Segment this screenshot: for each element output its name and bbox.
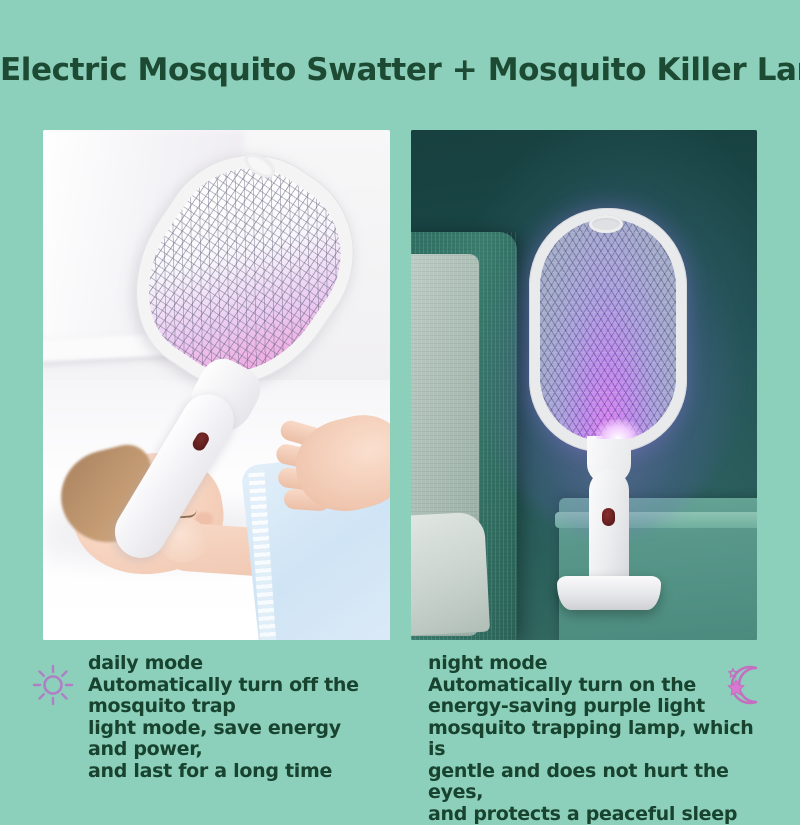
moon-icon: [718, 658, 772, 712]
night-mode-photo: [411, 130, 757, 640]
product-infographic: Electric Mosquito Swatter + Mosquito Kil…: [0, 0, 800, 800]
daily-mode-photo: [43, 130, 390, 640]
lamp-handle: [589, 470, 629, 586]
bed-pillow: [411, 512, 490, 637]
power-button-indicator: [602, 508, 615, 526]
uv-bulb: [596, 419, 640, 439]
lamp-mesh-grid: [540, 219, 676, 441]
lamp-hang-hole: [589, 215, 623, 233]
daily-mode-feature-text: daily mode Automatically turn off the mo…: [88, 653, 388, 782]
lamp-stand-base: [557, 576, 661, 610]
night-mode-feature-text: night mode Automatically turn on the ene…: [428, 653, 758, 825]
sun-icon: [30, 662, 76, 708]
mosquito-killer-lamp: [529, 208, 689, 608]
hand-holding-swatter: [274, 408, 390, 526]
page-title: Electric Mosquito Swatter + Mosquito Kil…: [0, 52, 800, 88]
